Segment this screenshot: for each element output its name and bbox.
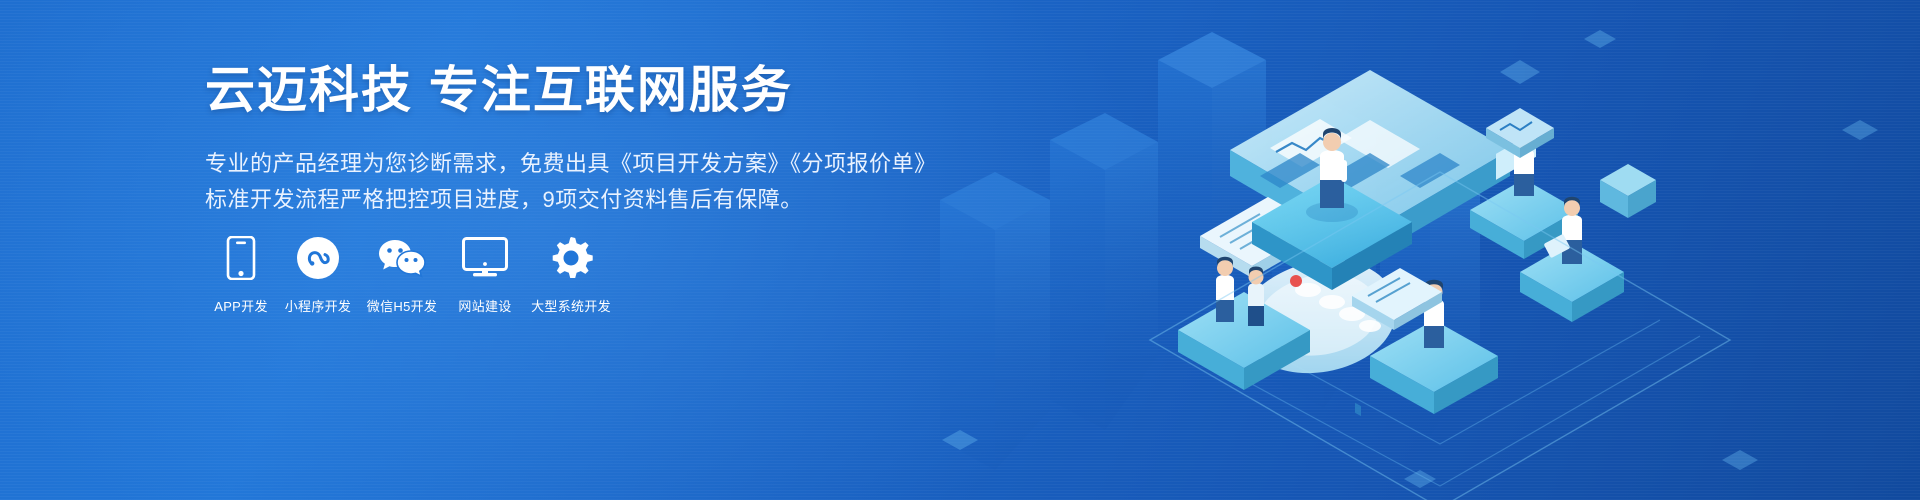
subtitle-block: 专业的产品经理为您诊断需求，免费出具《项目开发方案》《分项报价单》 标准开发流程… bbox=[205, 146, 965, 217]
isometric-tech-illustration bbox=[900, 0, 1920, 500]
service-label-website: 网站建设 bbox=[458, 296, 511, 315]
subtitle-line-1: 专业的产品经理为您诊断需求，免费出具《项目开发方案》《分项报价单》 bbox=[205, 146, 965, 182]
service-item-website[interactable]: 网站建设 bbox=[445, 232, 525, 315]
service-label-large-system: 大型系统开发 bbox=[531, 296, 611, 315]
service-item-large-system[interactable]: 大型系统开发 bbox=[525, 232, 617, 315]
wechat-icon bbox=[378, 232, 426, 284]
banner-text-block: 云迈科技 专注互联网服务 专业的产品经理为您诊断需求，免费出具《项目开发方案》《… bbox=[205, 60, 965, 217]
service-label-wechat-h5: 微信H5开发 bbox=[367, 296, 437, 315]
subtitle-line-2: 标准开发流程严格把控项目进度，9项交付资料售后有保障。 bbox=[205, 182, 965, 218]
service-icon-row: APP开发 小程序开发 bbox=[205, 232, 617, 315]
promo-banner: 云迈科技 专注互联网服务 专业的产品经理为您诊断需求，免费出具《项目开发方案》《… bbox=[0, 0, 1920, 500]
gear-icon bbox=[549, 232, 593, 284]
monitor-icon bbox=[462, 232, 508, 284]
mobile-phone-icon bbox=[226, 232, 256, 284]
service-label-app: APP开发 bbox=[214, 296, 268, 315]
page-title: 云迈科技 专注互联网服务 bbox=[205, 60, 965, 120]
service-label-miniprogram: 小程序开发 bbox=[285, 296, 352, 315]
mini-program-icon bbox=[296, 232, 340, 284]
service-item-app[interactable]: APP开发 bbox=[205, 232, 277, 315]
service-item-miniprogram[interactable]: 小程序开发 bbox=[277, 232, 359, 315]
service-item-wechat-h5[interactable]: 微信H5开发 bbox=[359, 232, 445, 315]
